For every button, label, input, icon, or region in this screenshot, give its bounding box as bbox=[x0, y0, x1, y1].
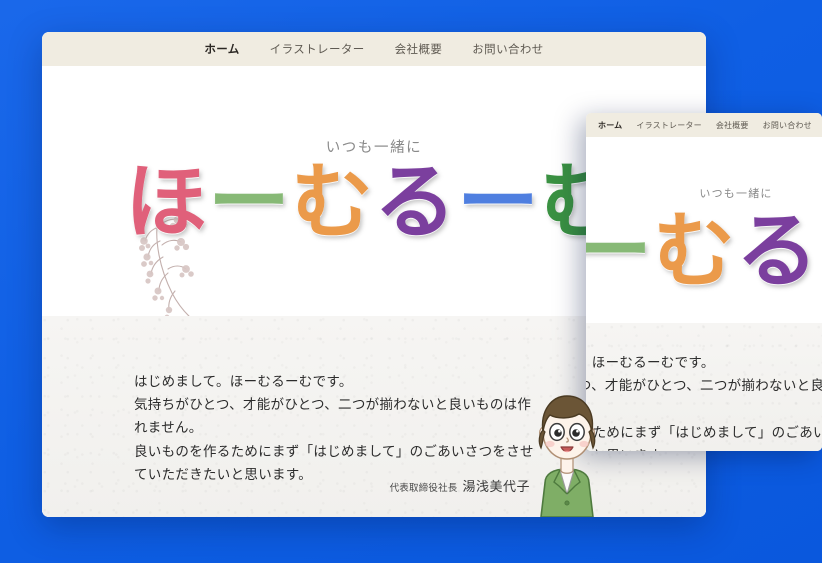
nav-item-contact[interactable]: お問い合わせ bbox=[472, 41, 543, 57]
secondary-intro-paragraphs: はじめまして。ほーむるーむです。 気持ちがひとつ、才能がひとつ、二つが揃わないと… bbox=[586, 351, 822, 451]
secondary-nav-item-contact[interactable]: お問い合わせ bbox=[763, 120, 812, 131]
logo-char-4: る bbox=[374, 162, 457, 244]
secondary-hero-tagline: いつも一緒に bbox=[586, 185, 822, 201]
secondary-intro-paragraph-3: 良いものを作るためにまず「はじめまして」のごあいさつをさせていただきたいと思いま… bbox=[586, 421, 822, 451]
secondary-intro-paragraph-1: はじめまして。ほーむるーむです。 bbox=[586, 351, 822, 374]
intro-paragraph-2: 気持ちがひとつ、才能がひとつ、二つが揃わないと良いものは作れません。 bbox=[134, 393, 534, 439]
main-navigation-bar: ホーム イラストレーター 会社概要 お問い合わせ bbox=[42, 32, 706, 66]
secondary-intro-paragraph-2: 気持ちがひとつ、才能がひとつ、二つが揃わないと良いものは作れません。 bbox=[586, 374, 822, 420]
logo-char-1: ほ bbox=[125, 162, 208, 244]
logo-char-5: ー bbox=[457, 162, 540, 244]
secondary-nav-item-illustrator[interactable]: イラストレーター bbox=[636, 120, 701, 131]
secondary-site-logo: ほーむるーむ bbox=[586, 211, 822, 293]
nav-item-illustrator[interactable]: イラストレーター bbox=[270, 41, 365, 57]
secondary-navigation-bar: ホーム イラストレーター 会社概要 お問い合わせ bbox=[586, 113, 822, 137]
logo-char-2: ー bbox=[208, 162, 291, 244]
secondary-logo-char-4: る bbox=[736, 211, 819, 293]
intro-paragraph-1: はじめまして。ほーむるーむです。 bbox=[134, 370, 534, 393]
logo-char-3: む bbox=[291, 162, 374, 244]
signature-title: 代表取締役社長 bbox=[390, 483, 458, 494]
secondary-hero-section: いつも一緒に ほーむるーむ bbox=[586, 137, 822, 323]
secondary-browser-window[interactable]: ホーム イラストレーター 会社概要 お問い合わせ いつも一緒に ほーむるーむ は… bbox=[586, 113, 822, 451]
secondary-logo-char-2: ー bbox=[586, 211, 653, 293]
secondary-hero-content: いつも一緒に ほーむるーむ bbox=[586, 137, 822, 323]
desktop-background: ホーム イラストレーター 会社概要 お問い合わせ いつも一緒に bbox=[0, 0, 822, 563]
signature-name: 湯浅美代子 bbox=[462, 479, 530, 494]
secondary-nav-item-company[interactable]: 会社概要 bbox=[716, 120, 749, 131]
nav-item-home[interactable]: ホーム bbox=[204, 41, 239, 57]
secondary-logo-char-3: む bbox=[653, 211, 736, 293]
secondary-intro-section: はじめまして。ほーむるーむです。 気持ちがひとつ、才能がひとつ、二つが揃わないと… bbox=[586, 323, 822, 451]
signature: 代表取締役社長湯浅美代子 bbox=[390, 476, 530, 495]
intro-paragraphs: はじめまして。ほーむるーむです。 気持ちがひとつ、才能がひとつ、二つが揃わないと… bbox=[134, 370, 534, 486]
secondary-nav-item-home[interactable]: ホーム bbox=[598, 120, 622, 131]
secondary-intro-content: はじめまして。ほーむるーむです。 気持ちがひとつ、才能がひとつ、二つが揃わないと… bbox=[586, 323, 822, 451]
nav-item-company[interactable]: 会社概要 bbox=[395, 41, 443, 57]
